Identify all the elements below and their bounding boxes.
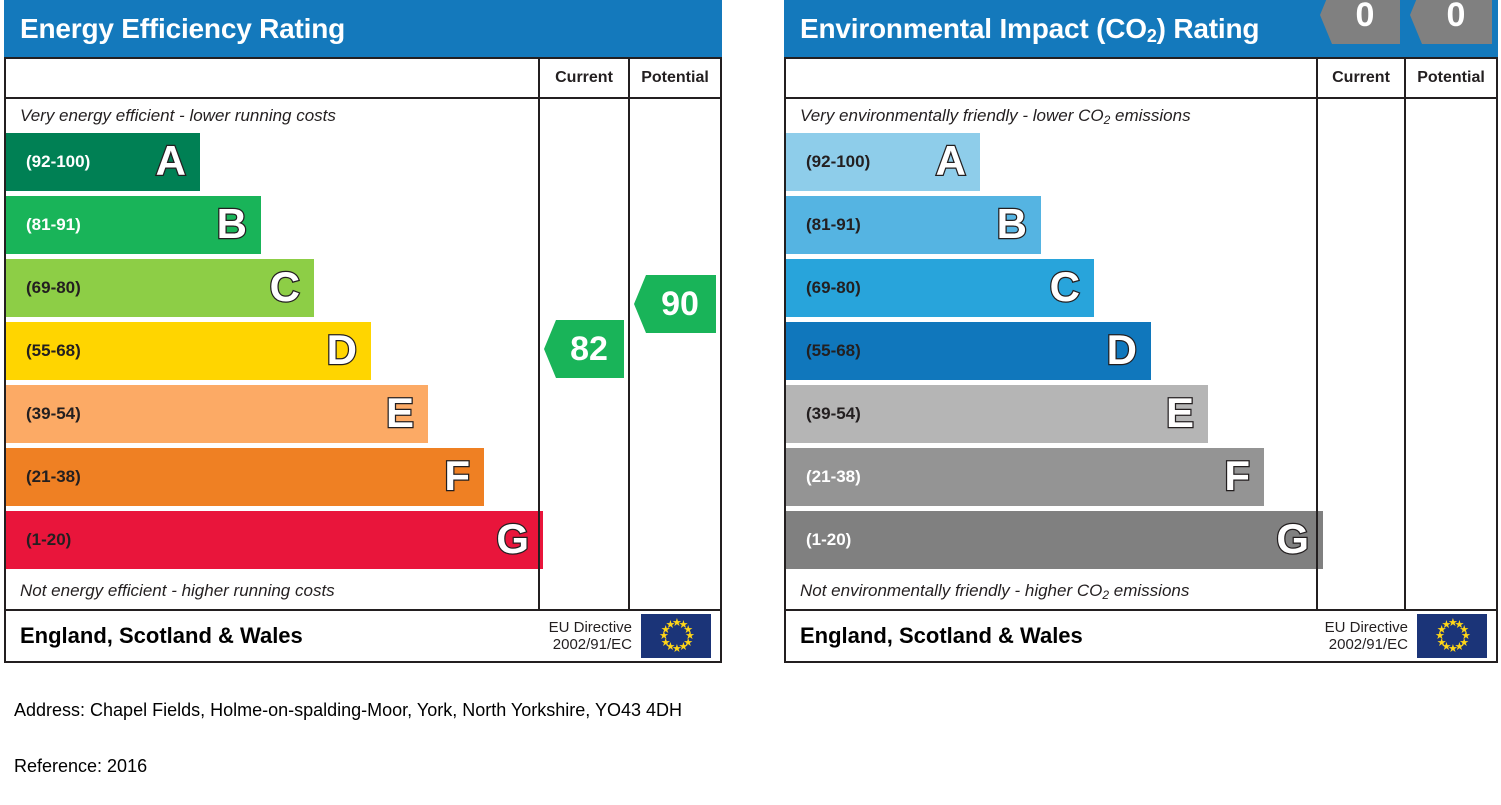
co2-band-range-g: (1-20): [786, 530, 851, 550]
co2-top-caption-suffix: emissions: [1110, 106, 1190, 125]
band-range-g: (1-20): [6, 530, 71, 550]
band-letter-g: G: [496, 518, 529, 560]
co2-header-spacer: [786, 59, 1316, 97]
co2-footer-region: England, Scotland & Wales: [786, 623, 1325, 649]
band-row: (39-54)E: [786, 384, 1316, 447]
band-row: (81-91)B: [786, 195, 1316, 258]
co2-band-bar-g: (1-20)G: [786, 511, 1323, 569]
band-bar-d: (55-68)D: [6, 322, 371, 380]
eu-directive-line1: EU Directive: [1325, 619, 1408, 636]
band-range-c: (69-80): [6, 278, 81, 298]
co2-bottom-caption-prefix: Not environmentally friendly - higher CO: [800, 581, 1102, 600]
co2-chart-grid: Current Potential Very environmentally f…: [784, 57, 1498, 611]
co2-band-letter-d: D: [1107, 329, 1137, 371]
co2-current-value-column: [1316, 99, 1404, 609]
band-range-f: (21-38): [6, 467, 81, 487]
co2-top-caption-subscript: 2: [1104, 113, 1111, 127]
energy-header-spacer: [6, 59, 538, 97]
band-bar-e: (39-54)E: [6, 385, 428, 443]
band-letter-e: E: [386, 392, 414, 434]
band-letter-b: B: [217, 203, 247, 245]
energy-chart-grid: Current Potential Very energy efficient …: [4, 57, 722, 611]
band-bar-f: (21-38)F: [6, 448, 484, 506]
band-row: (21-38)F: [6, 447, 538, 510]
co2-title-subscript: 2: [1147, 26, 1157, 46]
property-reference: Reference: 2016: [14, 756, 147, 777]
co2-chart-body: Very environmentally friendly - lower CO…: [786, 99, 1496, 609]
eu-flag-icon: ★★★★★★★★★★★★: [1417, 614, 1487, 658]
energy-potential-value-column: 90: [628, 99, 720, 609]
co2-bottom-caption-suffix: emissions: [1109, 581, 1189, 600]
co2-band-letter-e: E: [1166, 392, 1194, 434]
co2-bottom-caption: Not environmentally friendly - higher CO…: [786, 573, 1316, 609]
energy-potential-rating-arrow: 90: [634, 275, 716, 333]
co2-potential-rating-arrow: 0: [1410, 0, 1492, 44]
co2-band-range-e: (39-54): [786, 404, 861, 424]
co2-band-range-c: (69-80): [786, 278, 861, 298]
energy-current-column-header: Current: [538, 59, 628, 97]
co2-potential-column-header: Potential: [1404, 59, 1496, 97]
co2-footer-directive: EU Directive 2002/91/EC: [1325, 619, 1417, 654]
band-row: (92-100)A: [6, 132, 538, 195]
eu-flag-icon: ★★★★★★★★★★★★: [641, 614, 711, 658]
energy-chart-title-bar: Energy Efficiency Rating: [4, 0, 722, 57]
band-row: (21-38)F: [786, 447, 1316, 510]
co2-top-caption: Very environmentally friendly - lower CO…: [786, 99, 1316, 132]
band-bar-g: (1-20)G: [6, 511, 543, 569]
energy-bars: (92-100)A (81-91)B (69-80)C (55-68)D (39…: [6, 132, 538, 573]
co2-band-range-b: (81-91): [786, 215, 861, 235]
band-row: (55-68)D: [6, 321, 538, 384]
co2-current-column-header: Current: [1316, 59, 1404, 97]
band-row: (81-91)B: [6, 195, 538, 258]
energy-footer-directive: EU Directive 2002/91/EC: [549, 619, 641, 654]
band-bar-b: (81-91)B: [6, 196, 261, 254]
energy-chart-body: Very energy efficient - lower running co…: [6, 99, 720, 609]
band-range-a: (92-100): [6, 152, 90, 172]
co2-band-letter-b: B: [997, 203, 1027, 245]
band-row: (55-68)D: [786, 321, 1316, 384]
co2-chart-title: Environmental Impact (CO2) Rating: [784, 13, 1259, 45]
band-row: (39-54)E: [6, 384, 538, 447]
eu-star-icon: ★: [1442, 620, 1452, 631]
co2-band-bar-f: (21-38)F: [786, 448, 1264, 506]
co2-band-bar-d: (55-68)D: [786, 322, 1151, 380]
environmental-impact-rating-chart: Environmental Impact (CO2) Rating 0 0 Cu…: [784, 0, 1498, 663]
energy-top-caption: Very energy efficient - lower running co…: [6, 99, 538, 132]
energy-bands-column: Very energy efficient - lower running co…: [6, 99, 538, 609]
co2-chart-header-row: Current Potential: [786, 59, 1496, 99]
co2-band-letter-a: A: [936, 140, 966, 182]
energy-current-rating-arrow: 82: [544, 320, 624, 378]
co2-band-bar-a: (92-100)A: [786, 133, 980, 191]
band-row: (1-20)G: [786, 510, 1316, 573]
co2-band-range-f: (21-38): [786, 467, 861, 487]
band-row: (69-80)C: [786, 258, 1316, 321]
co2-band-range-d: (55-68): [786, 341, 861, 361]
eu-star-icon: ★: [666, 620, 676, 631]
band-bar-c: (69-80)C: [6, 259, 314, 317]
band-row: (92-100)A: [786, 132, 1316, 195]
co2-title-suffix: ) Rating: [1157, 13, 1260, 44]
co2-chart-footer: England, Scotland & Wales EU Directive 2…: [784, 611, 1498, 663]
eu-directive-line2: 2002/91/EC: [549, 636, 632, 653]
co2-potential-value-column: [1404, 99, 1496, 609]
energy-efficiency-rating-chart: Energy Efficiency Rating Current Potenti…: [4, 0, 722, 663]
energy-potential-column-header: Potential: [628, 59, 720, 97]
band-letter-f: F: [444, 455, 470, 497]
co2-band-bar-c: (69-80)C: [786, 259, 1094, 317]
co2-band-letter-c: C: [1050, 266, 1080, 308]
energy-chart-footer: England, Scotland & Wales EU Directive 2…: [4, 611, 722, 663]
band-letter-d: D: [327, 329, 357, 371]
band-range-b: (81-91): [6, 215, 81, 235]
co2-current-rating-arrow: 0: [1320, 0, 1400, 44]
co2-band-letter-f: F: [1224, 455, 1250, 497]
band-letter-a: A: [156, 140, 186, 182]
property-address: Address: Chapel Fields, Holme-on-spaldin…: [14, 700, 682, 721]
band-bar-a: (92-100)A: [6, 133, 200, 191]
eu-directive-line2: 2002/91/EC: [1325, 636, 1408, 653]
energy-footer-region: England, Scotland & Wales: [6, 623, 549, 649]
co2-band-range-a: (92-100): [786, 152, 870, 172]
epc-certificate-page: Energy Efficiency Rating Current Potenti…: [0, 0, 1501, 805]
co2-band-bar-e: (39-54)E: [786, 385, 1208, 443]
eu-directive-line1: EU Directive: [549, 619, 632, 636]
band-row: (69-80)C: [6, 258, 538, 321]
co2-bottom-caption-subscript: 2: [1102, 588, 1109, 602]
energy-current-value-column: 82: [538, 99, 628, 609]
band-range-e: (39-54): [6, 404, 81, 424]
co2-bars: (92-100)A (81-91)B (69-80)C (55-68)D (39…: [786, 132, 1316, 573]
energy-chart-header-row: Current Potential: [6, 59, 720, 99]
band-row: (1-20)G: [6, 510, 538, 573]
co2-title-prefix: Environmental Impact (CO: [800, 13, 1147, 44]
energy-bottom-caption: Not energy efficient - higher running co…: [6, 573, 538, 609]
energy-chart-title: Energy Efficiency Rating: [4, 13, 345, 45]
co2-band-letter-g: G: [1276, 518, 1309, 560]
co2-chart-title-bar: Environmental Impact (CO2) Rating 0 0: [784, 0, 1498, 57]
co2-bands-column: Very environmentally friendly - lower CO…: [786, 99, 1316, 609]
co2-top-caption-prefix: Very environmentally friendly - lower CO: [800, 106, 1104, 125]
band-range-d: (55-68): [6, 341, 81, 361]
band-letter-c: C: [270, 266, 300, 308]
co2-band-bar-b: (81-91)B: [786, 196, 1041, 254]
